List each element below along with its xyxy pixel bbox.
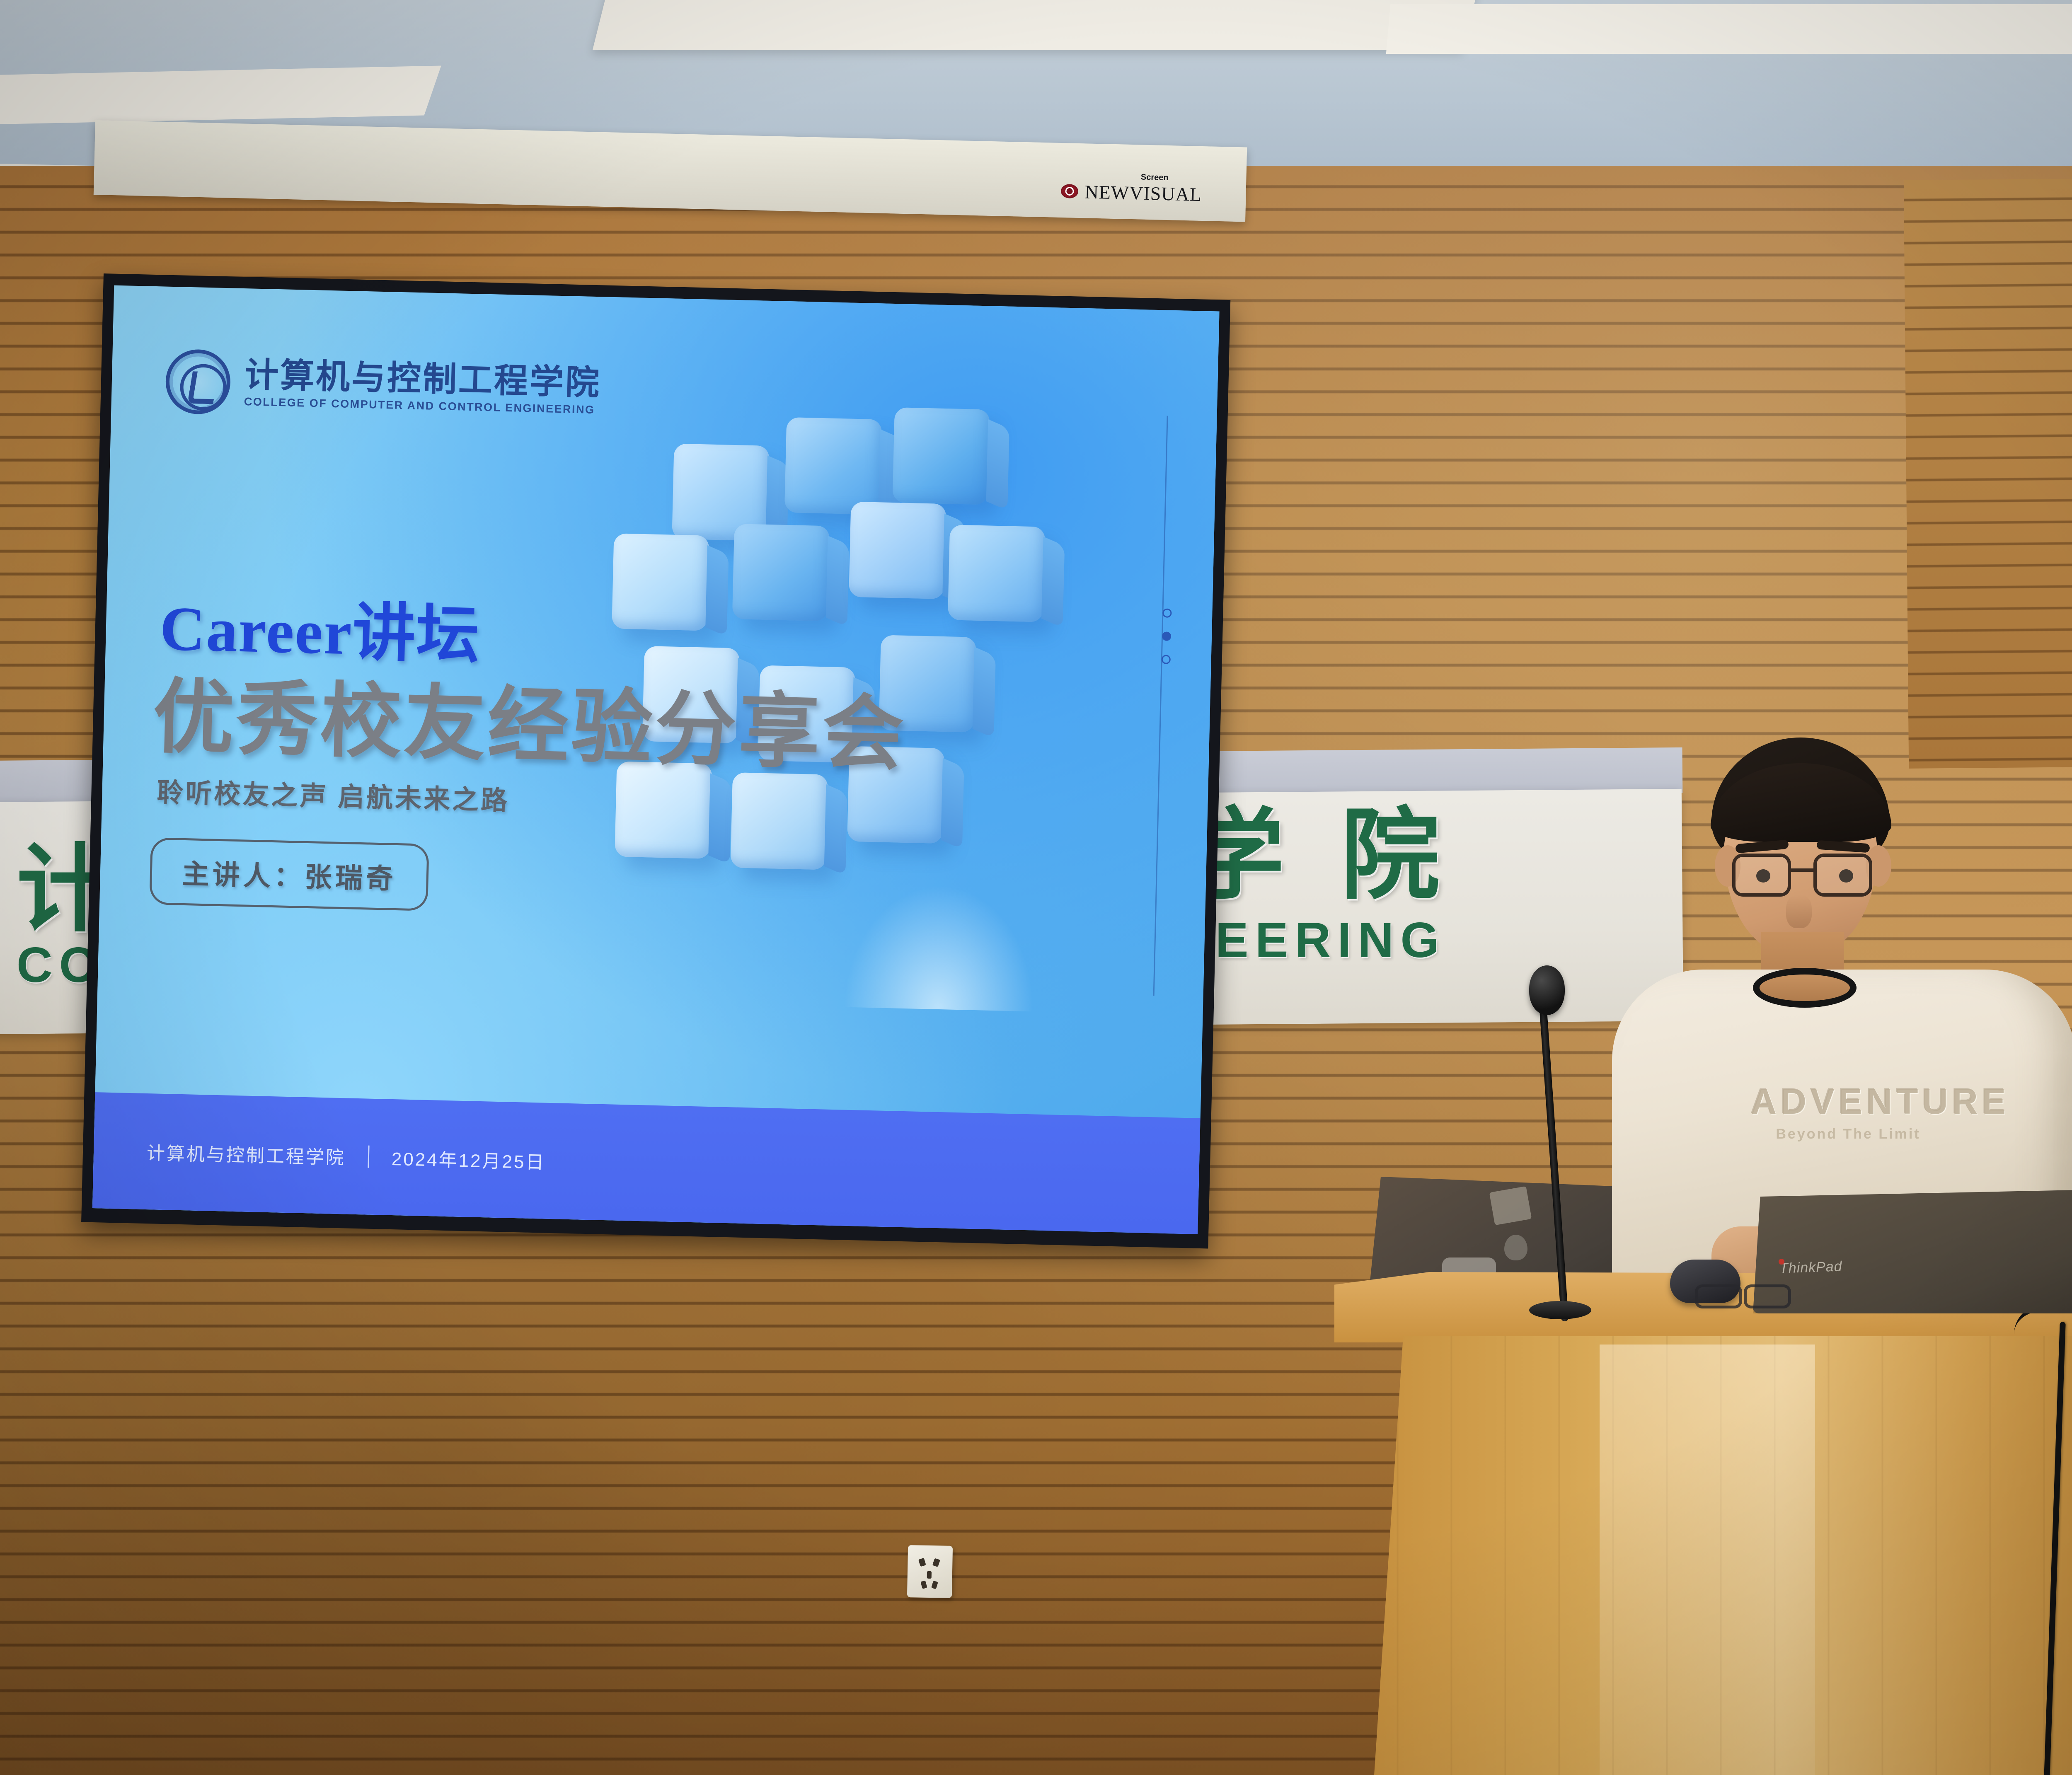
ceiling-recess-panel-right [1386, 4, 2072, 54]
projector-brand-superscript: Screen [1141, 173, 1169, 183]
thinkpad-brand-label: ThinkPad [1779, 1258, 1842, 1277]
eyeglasses-icon [1732, 854, 1873, 899]
apple-logo-icon [1504, 1235, 1527, 1260]
lecture-hall-scene: 计 CO 学 院 NEERING NEWVISUAL Screen 计算机 [0, 0, 2072, 1775]
slide-side-rail [1153, 416, 1168, 996]
projection-screen: 计算机与控制工程学院 COLLEGE OF COMPUTER AND CONTR… [81, 273, 1230, 1248]
wood-wall-right-panel [1904, 176, 2072, 769]
wall-sign-right-cn: 学 院 [1185, 775, 1454, 919]
ceiling-recess-panel [593, 0, 1479, 50]
college-emblem-icon [165, 349, 231, 415]
eyeglasses-on-desk-icon[interactable] [1695, 1284, 1798, 1305]
projector-brand-plate: NEWVISUAL Screen [1060, 172, 1202, 213]
slide-speaker-badge: 主讲人：张瑞奇 [149, 837, 429, 911]
slide-pagination-dots[interactable] [1162, 608, 1172, 664]
thinkpad-laptop[interactable]: ThinkPad [1753, 1189, 2072, 1313]
wall-outlet-icon [907, 1545, 953, 1598]
slide-footer-date: 2024年12月25日 [391, 1144, 546, 1174]
laptop-sticker [1489, 1186, 1532, 1225]
slide-footer-separator [368, 1146, 369, 1168]
pagination-dot-2-active[interactable] [1162, 631, 1172, 641]
projector-brand-name: NEWVISUAL [1084, 181, 1202, 206]
sweatshirt-print-main: ADVENTURE [1751, 1081, 1946, 1122]
pagination-dot-3[interactable] [1162, 655, 1171, 664]
slide-college-logo: 计算机与控制工程学院 COLLEGE OF COMPUTER AND CONTR… [165, 349, 601, 424]
sweatshirt-print-sub: Beyond The Limit [1751, 1126, 1946, 1142]
slide-subtitle: 聆听校友之声 启航未来之路 [157, 771, 510, 817]
ceiling-recess-panel-left [0, 65, 441, 125]
thinkpad-logo-dot [1779, 1259, 1784, 1265]
microphone-base [1529, 1301, 1591, 1319]
eye-icon [1061, 184, 1078, 198]
slide-footer-org: 计算机与控制工程学院 [146, 1138, 346, 1169]
sweatshirt-collar [1753, 968, 1857, 1008]
gooseneck-microphone-icon[interactable] [1529, 965, 1565, 1015]
slide-logo-cn: 计算机与控制工程学院 [244, 358, 601, 400]
podium-highlight [1600, 1345, 1815, 1775]
lectern-podium [1334, 1272, 2072, 1775]
nose [1786, 895, 1812, 928]
slide-footer-band: 计算机与控制工程学院 2024年12月25日 [92, 1092, 1201, 1234]
presentation-slide: 计算机与控制工程学院 COLLEGE OF COMPUTER AND CONTR… [92, 285, 1220, 1234]
slide-title-secondary: 优秀校友经验分享会 [152, 651, 908, 786]
pagination-dot-1[interactable] [1162, 608, 1172, 618]
